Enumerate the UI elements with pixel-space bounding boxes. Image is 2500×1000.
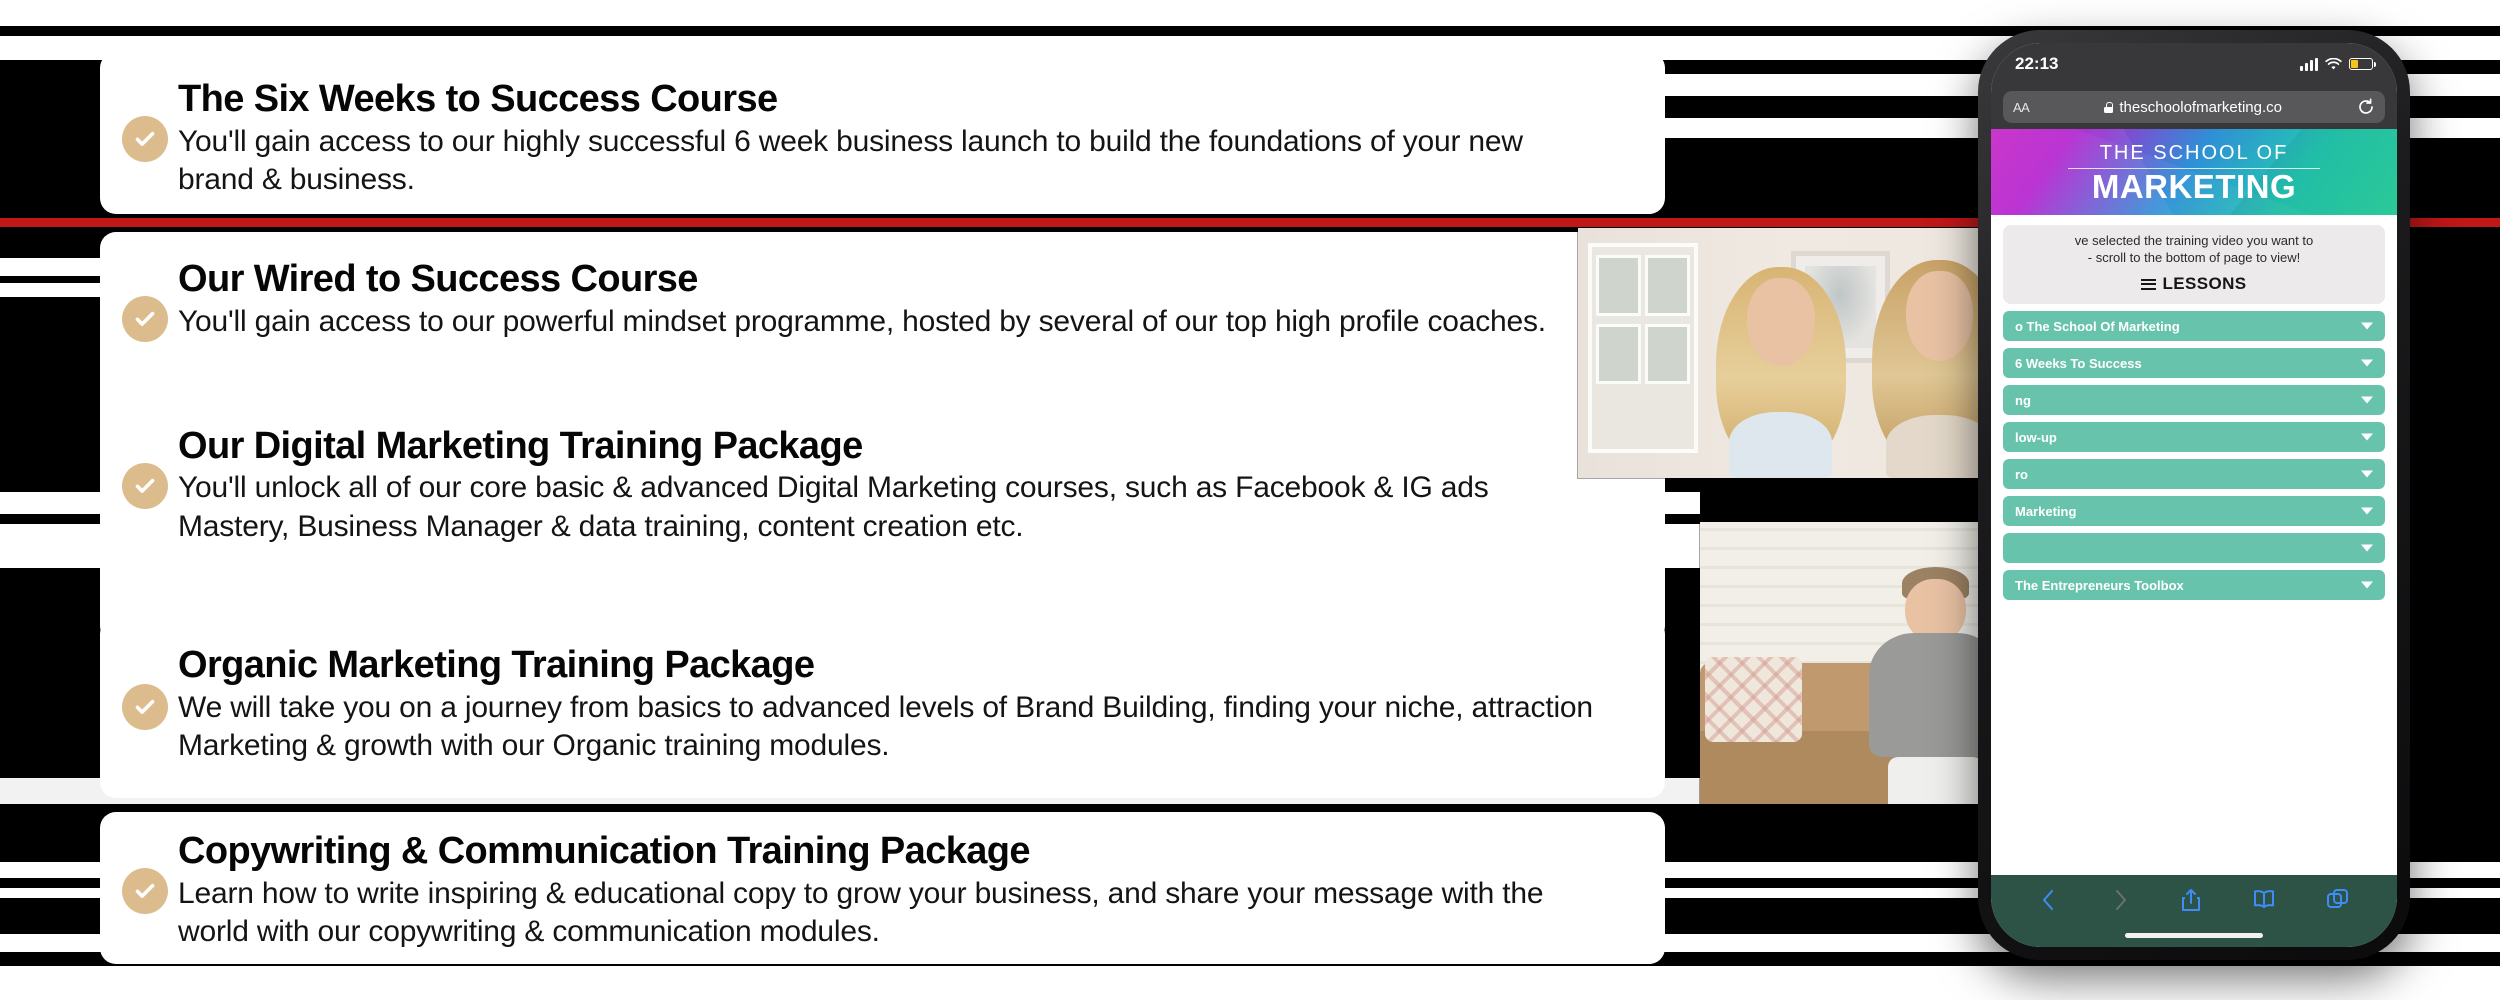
book-icon[interactable]: [2251, 887, 2277, 913]
benefit-title: Copywriting & Communication Training Pac…: [178, 830, 1625, 873]
chevron-down-icon: [2361, 434, 2373, 441]
benefit-body: We will take you on a journey from basic…: [178, 689, 1598, 766]
lesson-label: ro: [2015, 467, 2028, 482]
chevron-down-icon: [2361, 397, 2373, 404]
lesson-accordion-item[interactable]: low-up: [2003, 422, 2385, 452]
hamburger-icon: [2141, 279, 2156, 290]
lesson-accordion-item[interactable]: ng: [2003, 385, 2385, 415]
lesson-label: o The School Of Marketing: [2015, 319, 2180, 334]
hero-line-1: THE SCHOOL OF: [2100, 142, 2289, 165]
chevron-down-icon: [2361, 323, 2373, 330]
url-text: theschoolofmarketing.co: [2119, 99, 2282, 116]
screenshot-root: The Six Weeks to Success Course You'll g…: [0, 0, 2500, 1000]
lock-icon: [2104, 102, 2113, 113]
benefit-card: Organic Marketing Training Package We wi…: [100, 618, 1665, 798]
benefit-card: Copywriting & Communication Training Pac…: [100, 812, 1665, 964]
lesson-label: low-up: [2015, 430, 2057, 445]
phone-notch: [2095, 43, 2294, 79]
chevron-right-icon[interactable]: [2109, 887, 2131, 913]
browser-chrome: AA theschoolofmarketing.co: [1991, 85, 2397, 129]
phone-screen: 22:13 AA: [1991, 43, 2397, 947]
check-circle-icon: [122, 296, 168, 342]
cellular-signal-icon: [2300, 58, 2318, 71]
benefit-card: The Six Weeks to Success Course You'll g…: [100, 52, 1665, 214]
benefit-title: Our Digital Marketing Training Package: [178, 425, 1625, 468]
wifi-icon: [2325, 58, 2342, 71]
benefit-body: Learn how to write inspiring & education…: [178, 875, 1598, 952]
reload-icon[interactable]: [2357, 98, 2375, 116]
notice-line-2: - scroll to the bottom of page to view!: [2013, 250, 2375, 267]
site-hero-banner: THE SCHOOL OF MARKETING: [1991, 129, 2397, 215]
benefit-title: Organic Marketing Training Package: [178, 644, 1625, 687]
address-bar[interactable]: AA theschoolofmarketing.co: [2003, 91, 2385, 123]
benefit-body: You'll unlock all of our core basic & ad…: [178, 469, 1598, 546]
benefit-title: The Six Weeks to Success Course: [178, 78, 1625, 121]
check-circle-icon: [122, 868, 168, 914]
status-time: 22:13: [2015, 54, 2058, 74]
lesson-accordion-item[interactable]: Marketing: [2003, 496, 2385, 526]
notice-box: ve selected the training video you want …: [2003, 225, 2385, 304]
home-indicator: [2125, 933, 2263, 938]
lesson-label: 6 Weeks To Success: [2015, 356, 2142, 371]
benefit-card: Our Wired to Success Course You'll gain …: [100, 232, 1665, 642]
lesson-accordion-item[interactable]: 6 Weeks To Success: [2003, 348, 2385, 378]
iphone-mockup: 22:13 AA: [1978, 30, 2410, 960]
battery-low-icon: [2349, 58, 2373, 70]
text-size-button[interactable]: AA: [2013, 100, 2029, 115]
chevron-down-icon: [2361, 360, 2373, 367]
lesson-accordion-item[interactable]: ro: [2003, 459, 2385, 489]
site-content: ve selected the training video you want …: [1991, 215, 2397, 875]
benefit-body: You'll gain access to our highly success…: [178, 123, 1598, 200]
benefit-body: You'll gain access to our powerful minds…: [178, 303, 1598, 341]
lesson-label: The Entrepreneurs Toolbox: [2015, 578, 2184, 593]
lesson-accordion-item[interactable]: [2003, 533, 2385, 563]
lessons-button[interactable]: LESSONS: [2013, 274, 2375, 294]
chevron-down-icon: [2361, 545, 2373, 552]
chevron-down-icon: [2361, 582, 2373, 589]
lesson-label: Marketing: [2015, 504, 2076, 519]
lesson-label: ng: [2015, 393, 2031, 408]
chevron-down-icon: [2361, 471, 2373, 478]
notice-line-1: ve selected the training video you want …: [2013, 233, 2375, 250]
lessons-button-label: LESSONS: [2162, 274, 2246, 294]
hero-line-2: MARKETING: [2092, 170, 2296, 203]
benefit-title: Our Wired to Success Course: [178, 258, 1625, 301]
chevron-left-icon[interactable]: [2038, 887, 2060, 913]
share-icon[interactable]: [2180, 887, 2202, 913]
tabs-icon[interactable]: [2326, 887, 2350, 913]
check-circle-icon: [122, 684, 168, 730]
benefits-list: The Six Weeks to Success Course You'll g…: [100, 0, 1665, 1000]
check-circle-icon: [122, 116, 168, 162]
safari-toolbar: [1991, 875, 2397, 947]
lesson-accordion-item[interactable]: The Entrepreneurs Toolbox: [2003, 570, 2385, 600]
lesson-accordion-item[interactable]: o The School Of Marketing: [2003, 311, 2385, 341]
chevron-down-icon: [2361, 508, 2373, 515]
check-circle-icon: [122, 463, 168, 509]
